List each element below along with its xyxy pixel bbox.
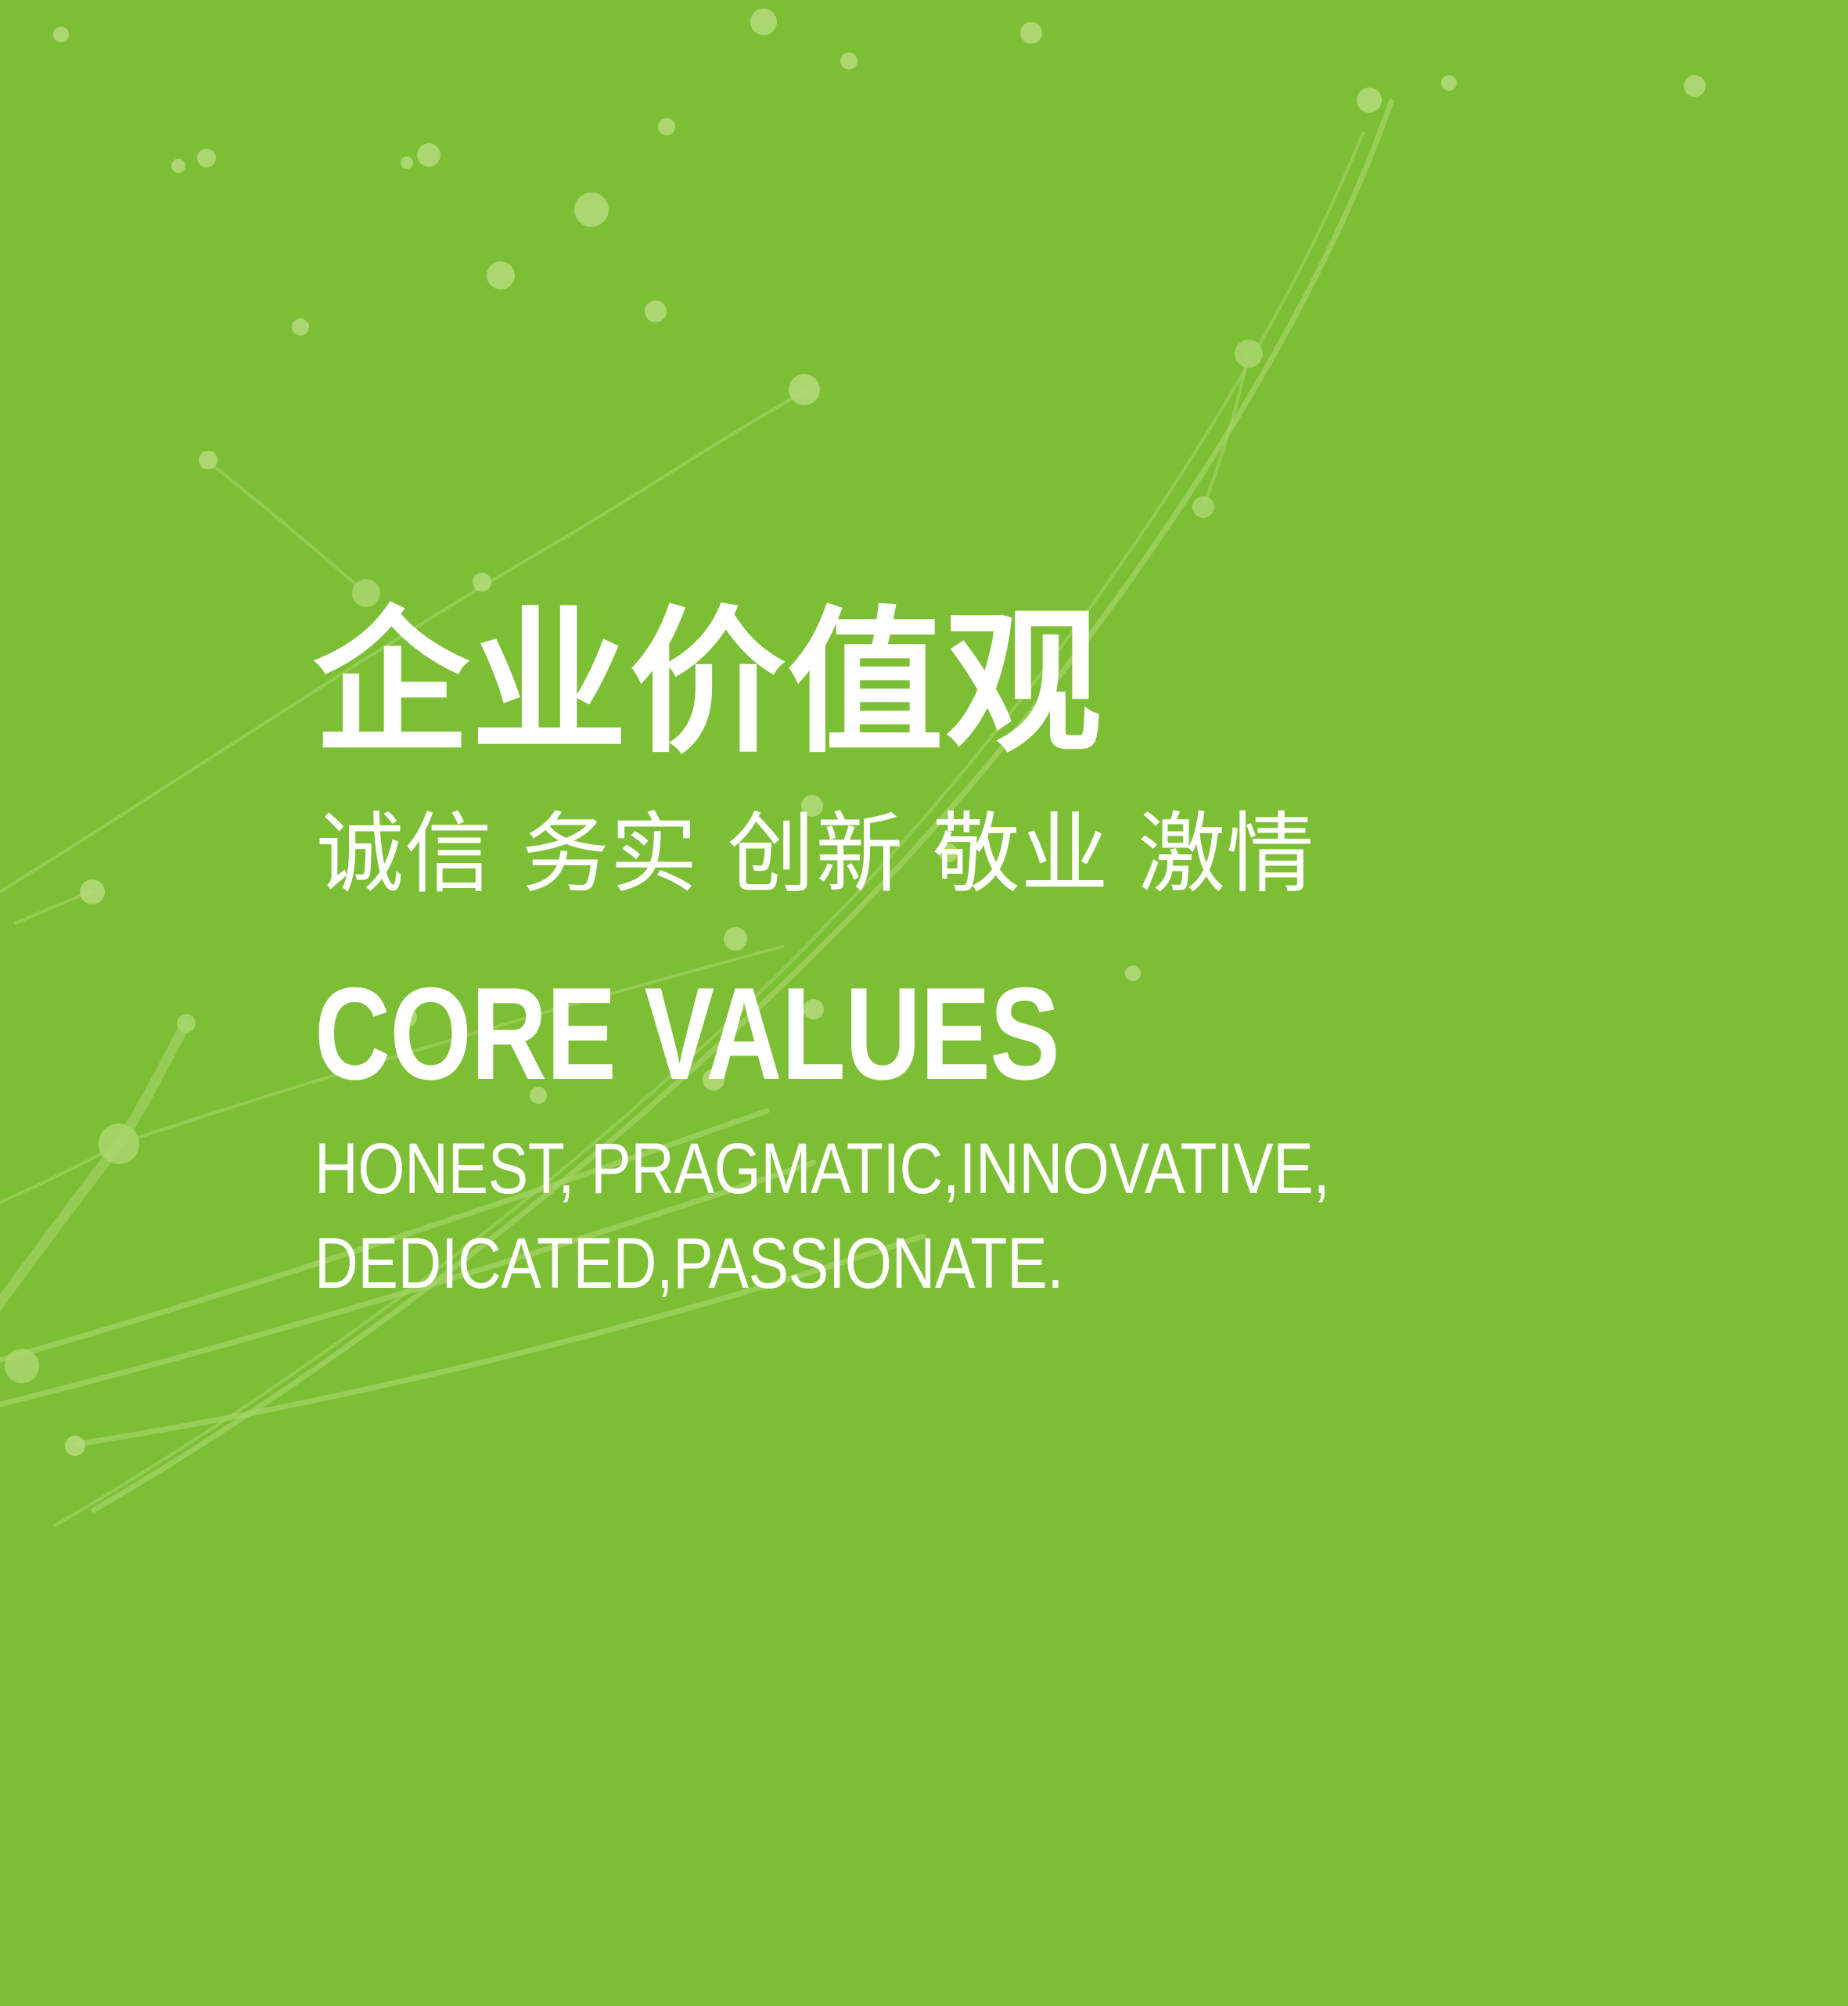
- english-body-line-2: DEDICATED,PASSIONATE.: [315, 1217, 1444, 1311]
- english-body-line-1: HONEST, PRAGMATIC,INNOVATIVE,: [315, 1122, 1444, 1217]
- poster-text-block: 企业价值观 诚信 务实 创新 敬业 激情 CORE VALUES HONEST,…: [313, 595, 1659, 1311]
- english-body: HONEST, PRAGMATIC,INNOVATIVE, DEDICATED,…: [315, 1122, 1444, 1312]
- core-values-poster: .ln { fill:none; stroke:#A9D66C; stroke-…: [0, 0, 1848, 2006]
- chinese-subtitle: 诚信 务实 创新 敬业 激情: [316, 803, 1659, 906]
- english-title: CORE VALUES: [315, 967, 1390, 1101]
- chinese-title: 企业价值观: [313, 595, 1659, 773]
